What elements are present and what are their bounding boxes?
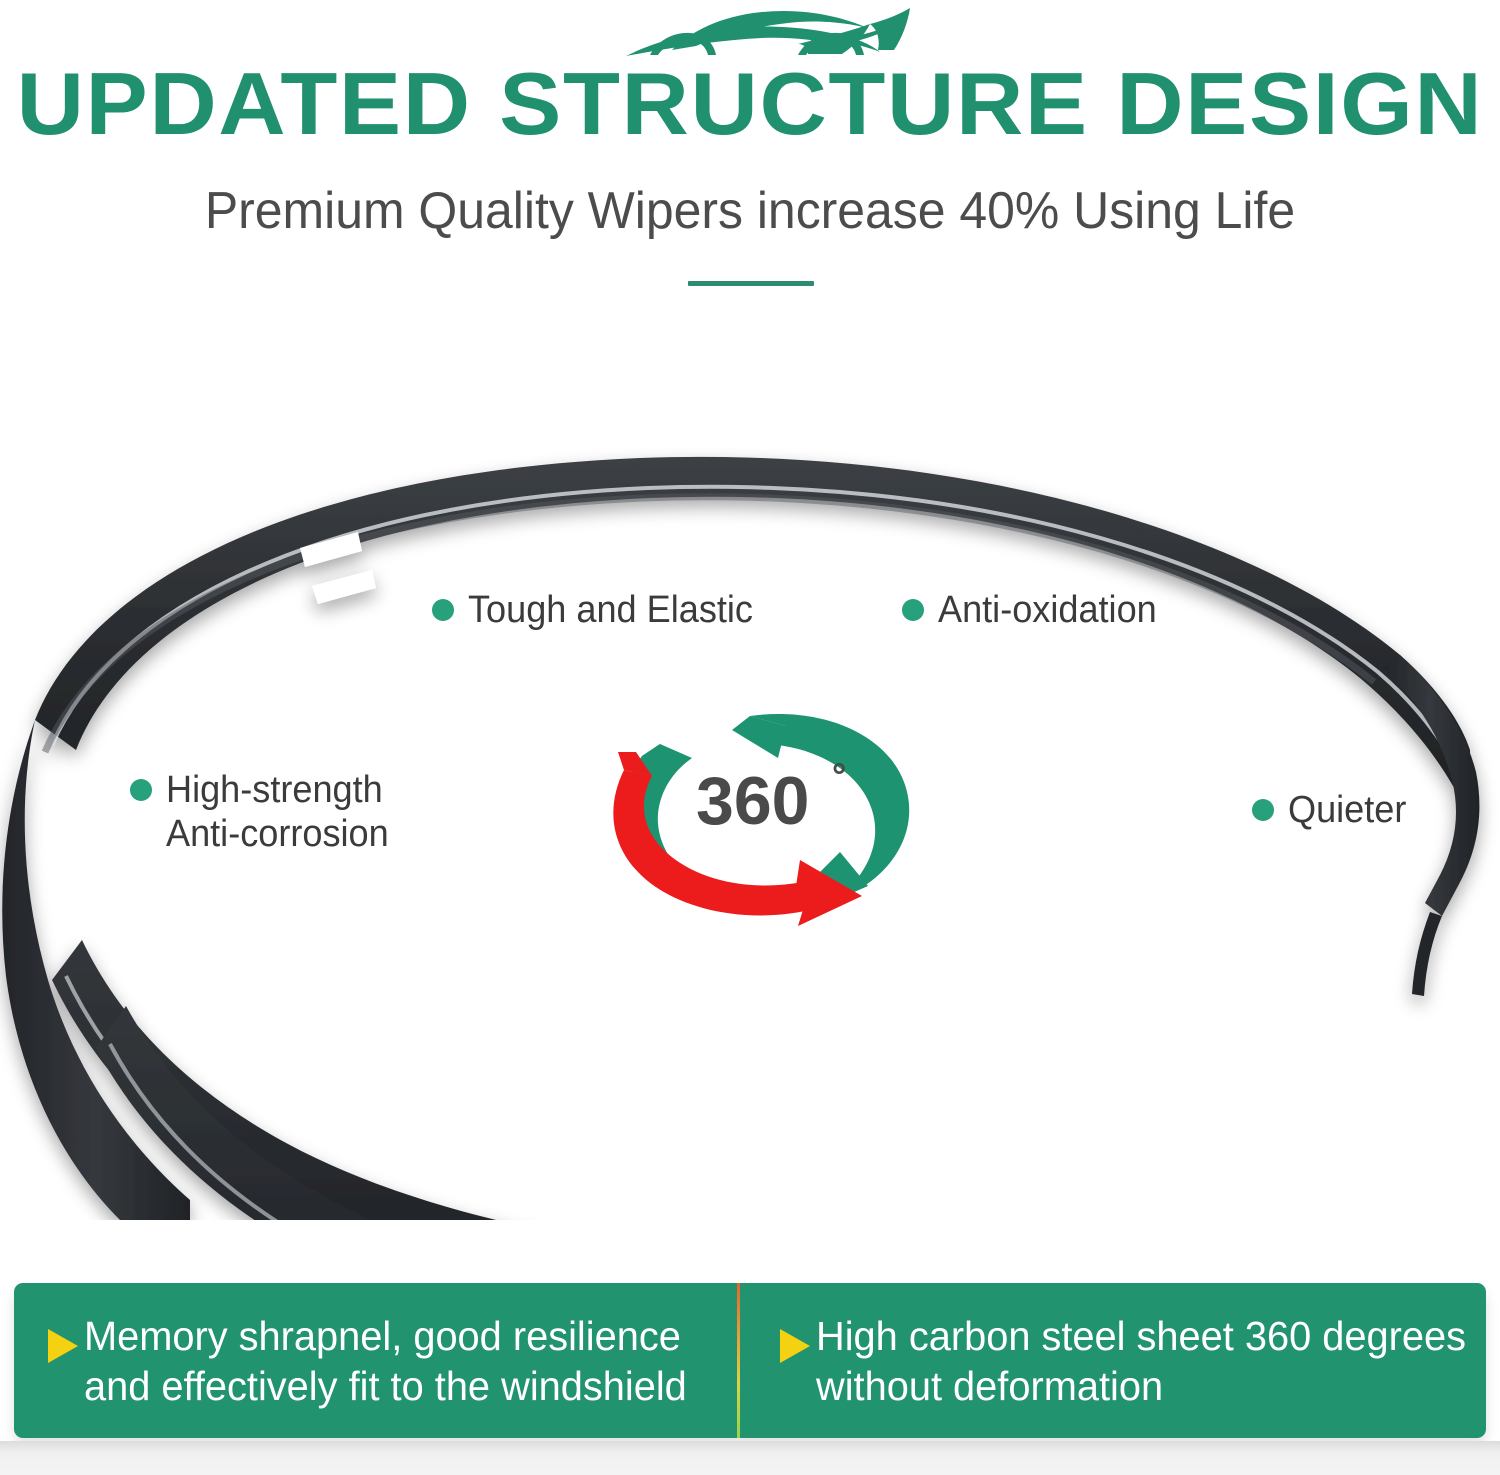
benefits-banner: Memory shrapnel, good resilience and eff… [14,1283,1486,1438]
feature-high-strength-anti-corrosion: High-strength Anti-corrosion [130,768,400,856]
benefit-memory-shrapnel: Memory shrapnel, good resilience and eff… [14,1283,737,1438]
title-divider [688,281,814,286]
bullet-dot-icon [432,599,454,621]
page-title: UPDATED STRUCTURE DESIGN [0,58,1500,150]
feature-label-line2: Anti-corrosion [166,812,389,856]
feature-label: Tough and Elastic [468,588,753,632]
rotation-360-badge: 360 ° [600,700,960,930]
feature-anti-oxidation: Anti-oxidation [902,588,1168,632]
bullet-dot-icon [902,599,924,621]
badge-degree-symbol: ° [832,755,846,796]
feature-label-line1: High-strength [166,769,383,811]
feature-tough-and-elastic: Tough and Elastic [432,588,768,632]
benefit-line2: and effectively fit to the windshield [84,1361,687,1411]
benefit-line1: Memory shrapnel, good resilience [84,1313,681,1359]
benefit-line2: without deformation [816,1361,1466,1411]
benefit-high-carbon-steel: High carbon steel sheet 360 degrees with… [740,1283,1486,1438]
bullet-dot-icon [1252,799,1274,821]
feature-label: High-strength Anti-corrosion [166,768,389,856]
badge-value: 360 [696,763,809,839]
feature-label: Quieter [1288,788,1406,832]
car-silhouette-icon [612,2,912,62]
bullet-dot-icon [130,779,152,801]
page-subtitle: Premium Quality Wipers increase 40% Usin… [30,180,1470,242]
benefit-text: High carbon steel sheet 360 degrees with… [816,1311,1466,1411]
benefit-text: Memory shrapnel, good resilience and eff… [84,1311,687,1411]
benefit-line1: High carbon steel sheet 360 degrees [816,1313,1466,1359]
page-bottom-fade [0,1441,1500,1475]
feature-quieter: Quieter [1252,788,1413,832]
triangle-right-icon [780,1329,810,1363]
product-infographic-page: UPDATED STRUCTURE DESIGN Premium Quality… [0,0,1500,1475]
feature-label: Anti-oxidation [938,588,1157,632]
triangle-right-icon [48,1329,78,1363]
